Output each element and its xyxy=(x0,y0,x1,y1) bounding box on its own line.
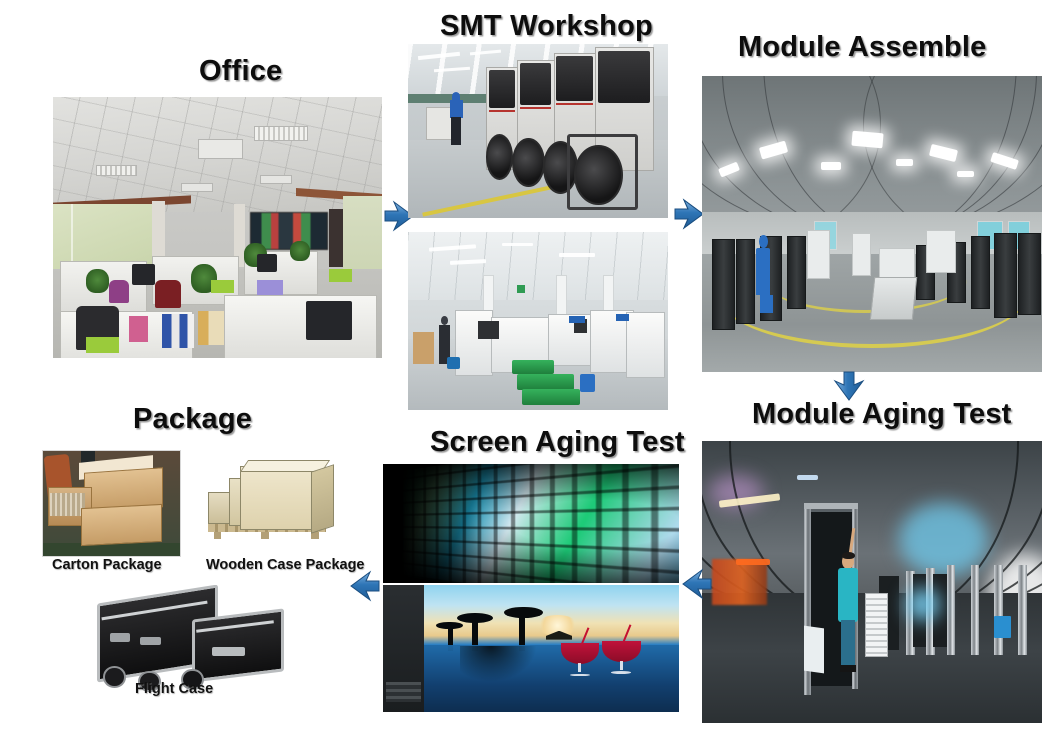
arrow-left-icon-screen-to-package xyxy=(350,570,380,602)
step-title-office: Office xyxy=(199,57,282,86)
caption-flight-case: Flight Case xyxy=(135,681,213,697)
module-assemble-photo xyxy=(702,76,1042,372)
flight-case-photo xyxy=(85,585,290,695)
screen-aging-array-photo xyxy=(383,464,679,583)
arrow-down-icon-module-assemble-to-aging xyxy=(833,371,865,401)
smt-line-photo xyxy=(408,44,668,218)
step-title-smt-workshop: SMT Workshop xyxy=(440,12,653,41)
screen-aging-image-photo xyxy=(383,585,679,712)
step-title-screen-aging-test: Screen Aging Test xyxy=(430,428,685,457)
arrow-right-icon-smt-to-module-assemble xyxy=(674,198,704,230)
carton-package-photo xyxy=(42,450,181,557)
office-photo xyxy=(53,97,382,358)
production-flow-diagram: Office SMT Workshop Module Assemble Modu… xyxy=(0,0,1060,743)
module-aging-photo xyxy=(702,441,1042,723)
step-title-module-aging-test: Module Aging Test xyxy=(752,400,1012,429)
smt-room-photo xyxy=(408,232,668,410)
step-title-module-assemble: Module Assemble xyxy=(738,33,986,62)
caption-wooden-case-package: Wooden Case Package xyxy=(206,557,365,573)
step-title-package: Package xyxy=(133,405,252,434)
arrow-left-icon-module-aging-to-screen xyxy=(682,568,712,600)
wooden-case-photo xyxy=(196,452,344,552)
caption-carton-package: Carton Package xyxy=(52,557,162,573)
